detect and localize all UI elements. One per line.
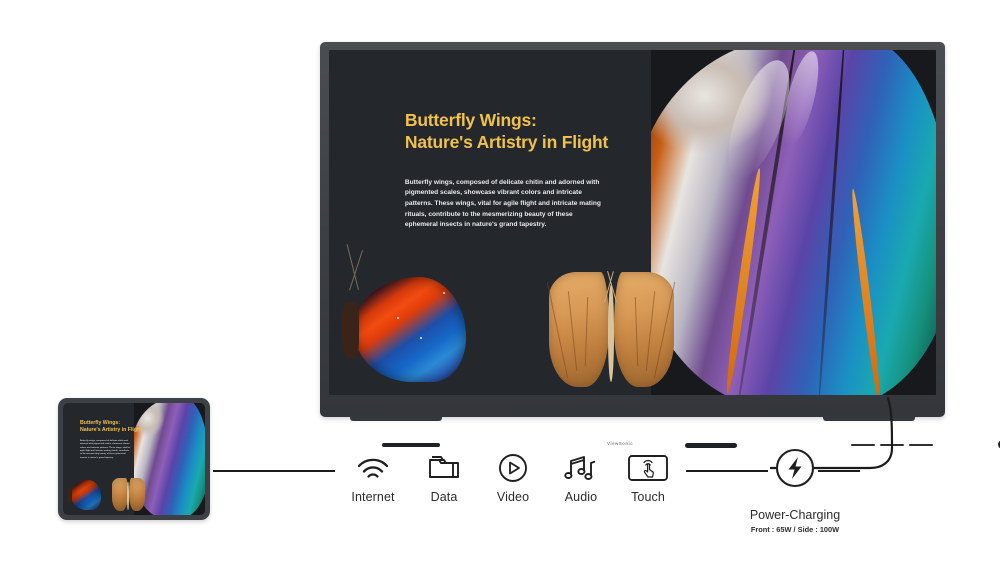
feature-label-video: Video <box>480 490 546 504</box>
tablet-slide-title: Butterfly Wings: Nature's Artistry in Fl… <box>80 420 142 434</box>
tablet-blue-butterfly <box>67 477 101 513</box>
tablet-to-features-connector <box>213 470 335 472</box>
music-note-icon <box>548 446 614 490</box>
interactive-display: Butterfly Wings: Nature's Artistry in Fl… <box>320 42 945 417</box>
slide-body-text: Butterfly wings, composed of delicate ch… <box>405 178 605 231</box>
tablet-device: Butterfly Wings: Nature's Artistry in Fl… <box>58 398 210 520</box>
power-charging-title: Power-Charging <box>726 508 864 522</box>
power-charging-subtitle: Front : 65W / Side : 100W <box>726 525 864 534</box>
touch-screen-icon <box>615 446 681 490</box>
feature-label-internet: Internet <box>340 490 406 504</box>
tablet-title-line1: Butterfly Wings: <box>80 420 142 427</box>
feature-audio[interactable]: Audio <box>548 446 614 504</box>
feature-touch[interactable]: Touch <box>615 446 681 504</box>
display-foot-left <box>350 416 442 421</box>
feature-label-data: Data <box>411 490 477 504</box>
wifi-icon <box>340 446 406 490</box>
presentation-slide: Butterfly Wings: Nature's Artistry in Fl… <box>329 50 936 395</box>
tablet-screen: Butterfly Wings: Nature's Artistry in Fl… <box>63 403 205 515</box>
product-connectivity-diagram: Butterfly Wings: Nature's Artistry in Fl… <box>0 0 1000 573</box>
feature-video[interactable]: Video <box>480 446 546 504</box>
feature-label-audio: Audio <box>548 490 614 504</box>
tablet-leaf-butterfly <box>111 477 145 513</box>
blue-butterfly-image <box>341 267 468 391</box>
leaf-butterfly-image <box>548 267 675 391</box>
feature-data[interactable]: Data <box>411 446 477 504</box>
feature-label-touch: Touch <box>615 490 681 504</box>
tablet-title-line2: Nature's Artistry in Flight <box>80 427 142 434</box>
butterfly-wing-macro-photo <box>651 50 936 395</box>
feature-internet[interactable]: Internet <box>340 446 406 504</box>
tablet-slide-body: Butterfly wings, composed of delicate ch… <box>80 440 131 460</box>
slide-title-line1: Butterfly Wings: <box>405 109 648 131</box>
feature-icon-row: Internet Data Video <box>340 446 670 526</box>
display-screen: Butterfly Wings: Nature's Artistry in Fl… <box>329 50 936 395</box>
power-charging-block[interactable]: Power-Charging Front : 65W / Side : 100W <box>726 446 864 534</box>
slide-title: Butterfly Wings: Nature's Artistry in Fl… <box>405 109 648 154</box>
slide-title-line2: Nature's Artistry in Flight <box>405 131 648 153</box>
play-circle-icon <box>480 446 546 490</box>
folder-icon <box>411 446 477 490</box>
lightning-bolt-icon <box>726 446 864 490</box>
